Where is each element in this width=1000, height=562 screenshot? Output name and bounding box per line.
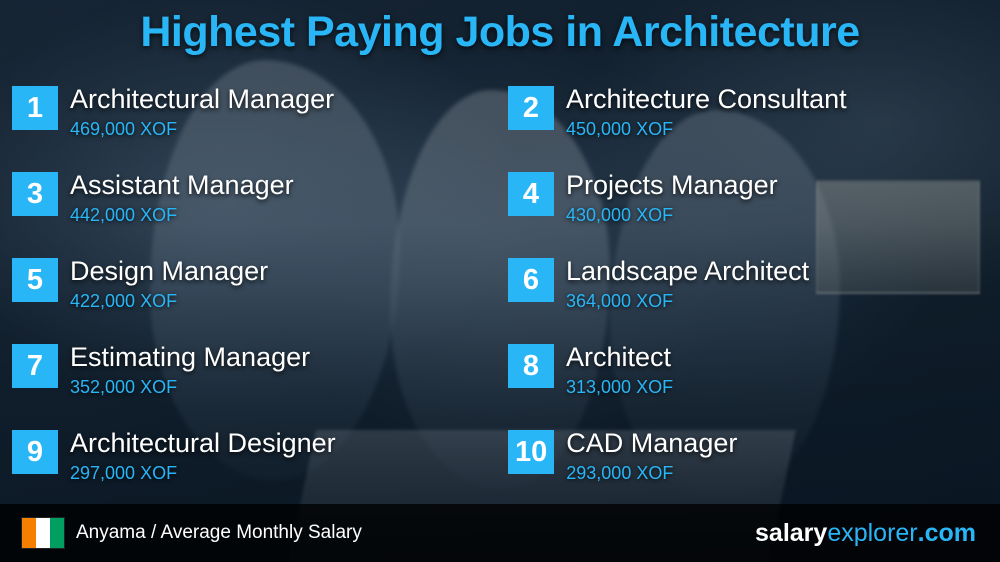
list-item-texts: Architect 313,000 XOF: [566, 342, 673, 398]
list-item: 3 Assistant Manager 442,000 XOF: [12, 170, 482, 254]
page-title: Highest Paying Jobs in Architecture: [0, 8, 1000, 57]
list-item-texts: Estimating Manager 352,000 XOF: [70, 342, 310, 398]
list-item: 4 Projects Manager 430,000 XOF: [508, 170, 978, 254]
infographic-page: Highest Paying Jobs in Architecture 1 Ar…: [0, 0, 1000, 562]
footer-bar: Anyama / Average Monthly Salary salaryex…: [0, 504, 1000, 562]
list-item: 1 Architectural Manager 469,000 XOF: [12, 84, 482, 168]
job-title: Landscape Architect: [566, 256, 809, 286]
job-salary: 469,000 XOF: [70, 118, 334, 140]
list-item: 8 Architect 313,000 XOF: [508, 342, 978, 426]
job-salary: 297,000 XOF: [70, 462, 336, 484]
list-item-texts: Landscape Architect 364,000 XOF: [566, 256, 809, 312]
job-title: Architecture Consultant: [566, 84, 847, 114]
salary-ranking-list: 1 Architectural Manager 469,000 XOF 2 Ar…: [0, 84, 1000, 504]
job-salary: 430,000 XOF: [566, 204, 778, 226]
list-item-texts: Architectural Designer 297,000 XOF: [70, 428, 336, 484]
list-item: 7 Estimating Manager 352,000 XOF: [12, 342, 482, 426]
job-title: Design Manager: [70, 256, 268, 286]
brand-logo[interactable]: salaryexplorer.com: [755, 519, 976, 548]
job-salary: 352,000 XOF: [70, 376, 310, 398]
job-salary: 450,000 XOF: [566, 118, 847, 140]
job-salary: 313,000 XOF: [566, 376, 673, 398]
job-title: Estimating Manager: [70, 342, 310, 372]
cote-divoire-flag-icon: [22, 518, 64, 548]
job-salary: 293,000 XOF: [566, 462, 737, 484]
list-item-texts: CAD Manager 293,000 XOF: [566, 428, 737, 484]
list-item: 10 CAD Manager 293,000 XOF: [508, 428, 978, 512]
list-item-texts: Design Manager 422,000 XOF: [70, 256, 268, 312]
rank-badge: 10: [508, 430, 554, 474]
list-item-texts: Assistant Manager 442,000 XOF: [70, 170, 294, 226]
footer-location-label: Anyama / Average Monthly Salary: [76, 522, 362, 544]
list-item: 2 Architecture Consultant 450,000 XOF: [508, 84, 978, 168]
list-item-texts: Architectural Manager 469,000 XOF: [70, 84, 334, 140]
rank-badge: 1: [12, 86, 58, 130]
rank-badge: 7: [12, 344, 58, 388]
job-salary: 442,000 XOF: [70, 204, 294, 226]
rank-badge: 5: [12, 258, 58, 302]
rank-badge: 4: [508, 172, 554, 216]
job-title: Architect: [566, 342, 673, 372]
rank-badge: 8: [508, 344, 554, 388]
list-item: 9 Architectural Designer 297,000 XOF: [12, 428, 482, 512]
rank-badge: 6: [508, 258, 554, 302]
list-item-texts: Architecture Consultant 450,000 XOF: [566, 84, 847, 140]
job-title: Assistant Manager: [70, 170, 294, 200]
rank-badge: 9: [12, 430, 58, 474]
brand-suffix: .com: [918, 519, 976, 547]
job-title: CAD Manager: [566, 428, 737, 458]
rank-badge: 3: [12, 172, 58, 216]
brand-primary: salary: [755, 519, 827, 547]
list-item: 5 Design Manager 422,000 XOF: [12, 256, 482, 340]
brand-secondary: explorer: [827, 519, 917, 547]
job-salary: 422,000 XOF: [70, 290, 268, 312]
list-item: 6 Landscape Architect 364,000 XOF: [508, 256, 978, 340]
rank-badge: 2: [508, 86, 554, 130]
job-title: Architectural Manager: [70, 84, 334, 114]
job-title: Projects Manager: [566, 170, 778, 200]
list-item-texts: Projects Manager 430,000 XOF: [566, 170, 778, 226]
job-salary: 364,000 XOF: [566, 290, 809, 312]
job-title: Architectural Designer: [70, 428, 336, 458]
